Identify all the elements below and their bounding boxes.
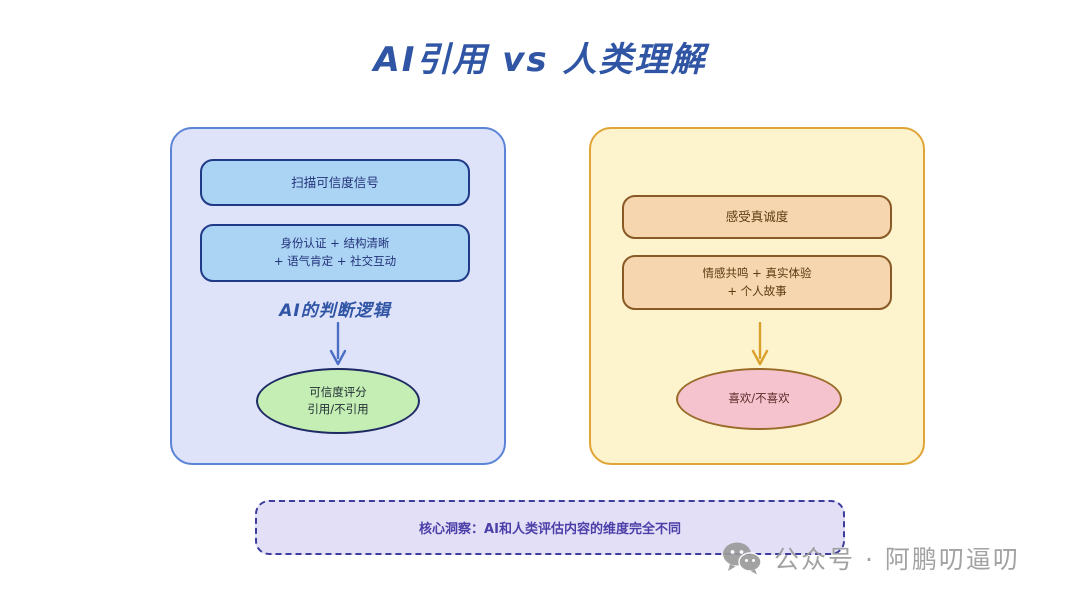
human-result-line1: 喜欢/不喜欢 bbox=[728, 390, 789, 407]
human-step-2-box: 情感共鸣 + 真实体验 + 个人故事 bbox=[622, 255, 892, 310]
ai-step-1-box: 扫描可信度信号 bbox=[200, 159, 470, 206]
ai-step-1-label: 扫描可信度信号 bbox=[291, 173, 379, 192]
human-result-ellipse: 喜欢/不喜欢 bbox=[676, 368, 842, 430]
ai-logic-label: AI的判断逻辑 bbox=[200, 296, 470, 321]
ai-result-line2: 引用/不引用 bbox=[307, 401, 368, 418]
human-step-2-line2: + 个人故事 bbox=[703, 283, 812, 301]
human-down-arrow-icon bbox=[748, 322, 772, 368]
human-step-2-line1: 情感共鸣 + 真实体验 bbox=[703, 265, 812, 283]
wechat-icon bbox=[722, 541, 762, 575]
ai-result-ellipse: 可信度评分 引用/不引用 bbox=[256, 368, 420, 434]
insight-label: 核心洞察：AI和人类评估内容的维度完全不同 bbox=[419, 518, 681, 537]
ai-down-arrow-icon bbox=[326, 322, 350, 368]
ai-step-2-line2: + 语气肯定 + 社交互动 bbox=[274, 253, 396, 271]
ai-step-2-box: 身份认证 + 结构清晰 + 语气肯定 + 社交互动 bbox=[200, 224, 470, 282]
watermark: 公众号 · 阿鹏叨逼叨 bbox=[722, 540, 1020, 576]
ai-step-2-line1: 身份认证 + 结构清晰 bbox=[274, 235, 396, 253]
human-step-1-label: 感受真诚度 bbox=[726, 207, 789, 226]
human-step-1-box: 感受真诚度 bbox=[622, 195, 892, 239]
page-title: AI引用 vs 人类理解 bbox=[0, 32, 1080, 81]
diagram-canvas: AI引用 vs 人类理解 扫描可信度信号 身份认证 + 结构清晰 + 语气肯定 … bbox=[0, 0, 1080, 609]
watermark-label: 公众号 · 阿鹏叨逼叨 bbox=[774, 540, 1020, 576]
ai-result-line1: 可信度评分 bbox=[307, 384, 368, 401]
